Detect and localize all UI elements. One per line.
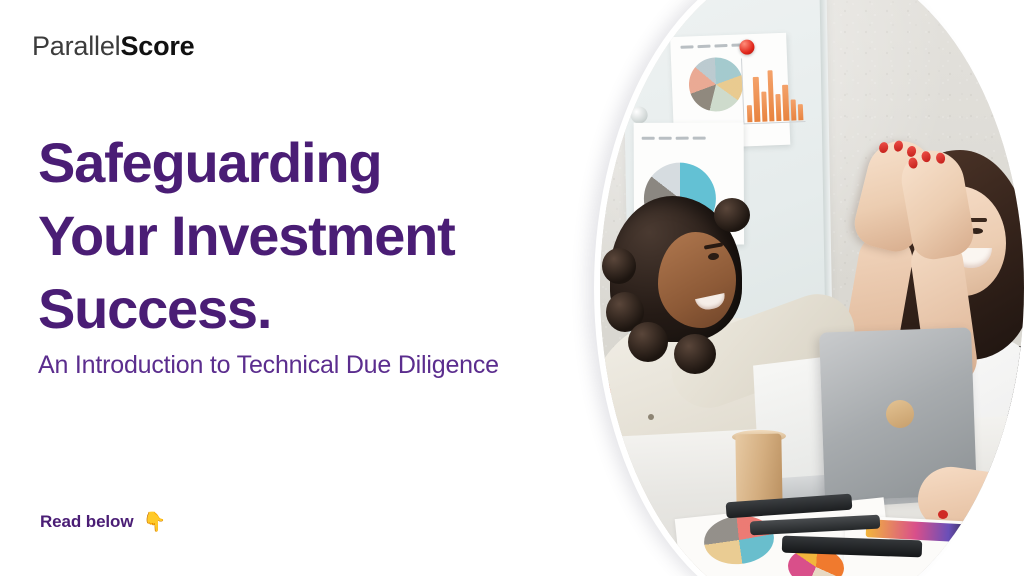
read-below-label: Read below bbox=[40, 513, 133, 530]
hero-image bbox=[600, 0, 1024, 576]
page-subtitle: An Introduction to Technical Due Diligen… bbox=[38, 350, 499, 381]
chart-legend-bottom bbox=[642, 137, 706, 140]
down-pointing-finger-icon: 👇 bbox=[142, 513, 166, 532]
person-left-face bbox=[658, 232, 736, 328]
nail-7 bbox=[935, 152, 946, 164]
hero-image-ellipse-mask bbox=[600, 0, 1024, 576]
shirt-button-1 bbox=[648, 414, 654, 420]
hair-curl-1 bbox=[602, 248, 636, 284]
hero-photo-scene bbox=[600, 0, 1024, 576]
hand-on-desk-nail bbox=[938, 510, 948, 519]
brand-logo[interactable]: ParallelScore bbox=[32, 33, 195, 60]
logo-text-bold: Score bbox=[120, 31, 194, 61]
bar-chart bbox=[745, 62, 803, 122]
hair-curl-5 bbox=[714, 198, 750, 232]
nail-2 bbox=[893, 140, 904, 153]
nail-5 bbox=[908, 157, 919, 169]
pie-chart-small bbox=[688, 56, 744, 112]
page-title: Safeguarding Your Investment Success. bbox=[38, 126, 598, 345]
nail-1 bbox=[878, 141, 889, 154]
chart-legend-top bbox=[680, 43, 744, 48]
bar-chart-y-axis bbox=[741, 58, 745, 124]
whiteboard-knob bbox=[630, 106, 647, 123]
hair-curl-3 bbox=[628, 322, 668, 362]
presentation-slide: ParallelScore Safeguarding Your Investme… bbox=[0, 0, 1024, 576]
title-line-2: Your Investment bbox=[38, 199, 598, 272]
hair-curl-4 bbox=[674, 334, 716, 374]
title-line-3: Success. bbox=[38, 272, 598, 345]
nail-6 bbox=[921, 150, 932, 162]
read-below-cta[interactable]: Read below 👇 bbox=[40, 512, 166, 531]
title-line-1: Safeguarding bbox=[38, 126, 598, 199]
logo-text-light: Parallel bbox=[32, 31, 120, 61]
